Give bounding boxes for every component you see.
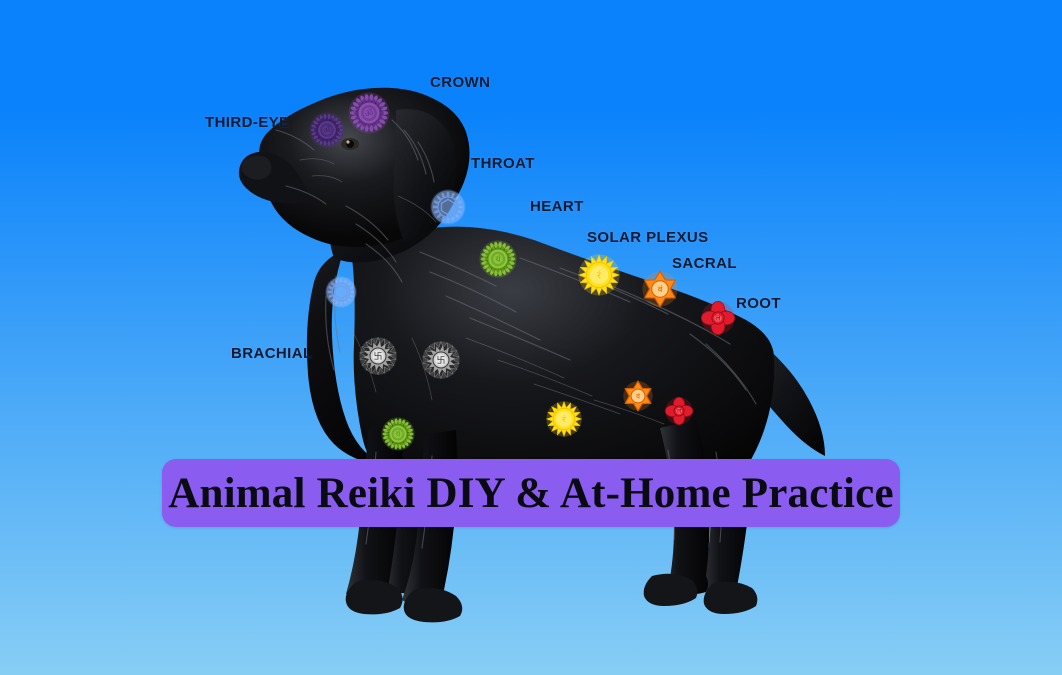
solar-plexus-lower-icon: रं (546, 401, 582, 437)
svg-text:卐: 卐 (437, 355, 446, 366)
svg-text:ॐ: ॐ (323, 125, 331, 135)
sacral-chakra-lower-icon: वं (623, 381, 653, 411)
chakra-label-sacral: SACRAL (672, 255, 737, 272)
title-banner: Animal Reiki DIY & At-Home Practice (162, 459, 900, 527)
svg-text:ॐ: ॐ (365, 107, 374, 119)
dog-eye-glint (346, 140, 349, 143)
dog-eye-pupil (346, 140, 354, 148)
svg-text:यं: यं (396, 430, 401, 439)
infographic-canvas: ॐॐयंयंरंरंवंवंलंलं卐卐 CROWNTHIRD-EYETHROA… (0, 0, 1062, 675)
dog-tail (741, 330, 825, 456)
dog-nose (242, 156, 272, 180)
brachial-chakra-icon: 卐 (359, 337, 397, 375)
dog-muzzle (239, 152, 312, 204)
dog-paw-3 (644, 574, 698, 606)
dog-illustration (0, 0, 1062, 675)
svg-text:卐: 卐 (374, 351, 383, 362)
svg-text:लं: लं (715, 314, 721, 323)
chakra-label-brachial: BRACHIAL (231, 345, 313, 362)
page-title: Animal Reiki DIY & At-Home Practice (168, 472, 894, 515)
heart-chakra-lower-icon: यं (381, 417, 415, 451)
crown-chakra-icon: ॐ (348, 92, 390, 134)
dog-paw-4 (704, 582, 758, 614)
solar-plexus-chakra-icon: रं (578, 254, 620, 296)
throat-chakra-lower-icon (325, 276, 357, 308)
chakra-label-throat: THROAT (471, 155, 535, 172)
chakra-label-heart: HEART (530, 198, 584, 215)
dog-paw-1 (346, 580, 403, 614)
chakra-label-third-eye: THIRD-EYE (205, 114, 289, 131)
svg-text:वं: वं (636, 392, 640, 400)
chakra-label-solar-plexus: SOLAR PLEXUS (587, 229, 708, 246)
dog-paw-2 (404, 588, 463, 622)
root-chakra-icon: लं (701, 301, 735, 335)
brachial-chakra-2-icon: 卐 (422, 341, 460, 379)
svg-text:वं: वं (658, 284, 663, 294)
chakra-label-crown: CROWN (430, 74, 490, 91)
svg-text:लं: लं (677, 407, 682, 415)
third-eye-chakra-icon: ॐ (309, 112, 345, 148)
sacral-chakra-icon: वं (642, 271, 678, 307)
throat-chakra-icon (430, 189, 466, 225)
heart-chakra-icon: यं (479, 240, 517, 278)
root-chakra-lower-icon: लं (665, 397, 693, 425)
chakra-label-root: ROOT (736, 295, 781, 312)
